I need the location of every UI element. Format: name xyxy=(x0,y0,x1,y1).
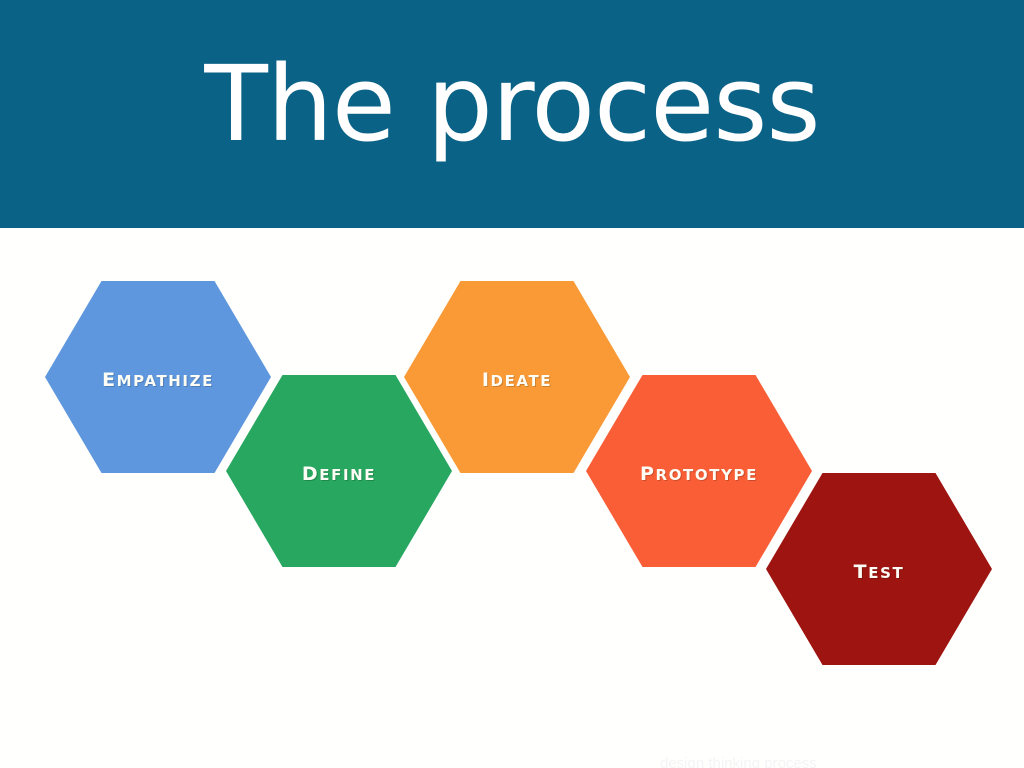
process-step-prototype[interactable]: Prototype xyxy=(586,375,812,567)
process-step-empathize[interactable]: Empathize xyxy=(45,281,271,473)
footer-caption: design thinking process xyxy=(660,756,1024,768)
process-diagram: Empathize Define Ideate Prototype Test xyxy=(0,228,1024,768)
process-step-label: Test xyxy=(854,556,905,583)
process-step-label: Ideate xyxy=(482,364,552,391)
process-step-ideate[interactable]: Ideate xyxy=(404,281,630,473)
slide-canvas: The process Empathize Define Ideate Prot… xyxy=(0,0,1024,768)
process-step-define[interactable]: Define xyxy=(226,375,452,567)
process-step-label: Prototype xyxy=(640,458,758,485)
slide-header-band: The process xyxy=(0,0,1024,228)
process-step-label: Empathize xyxy=(102,364,214,391)
process-step-test[interactable]: Test xyxy=(766,473,992,665)
page-title: The process xyxy=(0,44,1024,164)
process-step-label: Define xyxy=(302,458,376,485)
